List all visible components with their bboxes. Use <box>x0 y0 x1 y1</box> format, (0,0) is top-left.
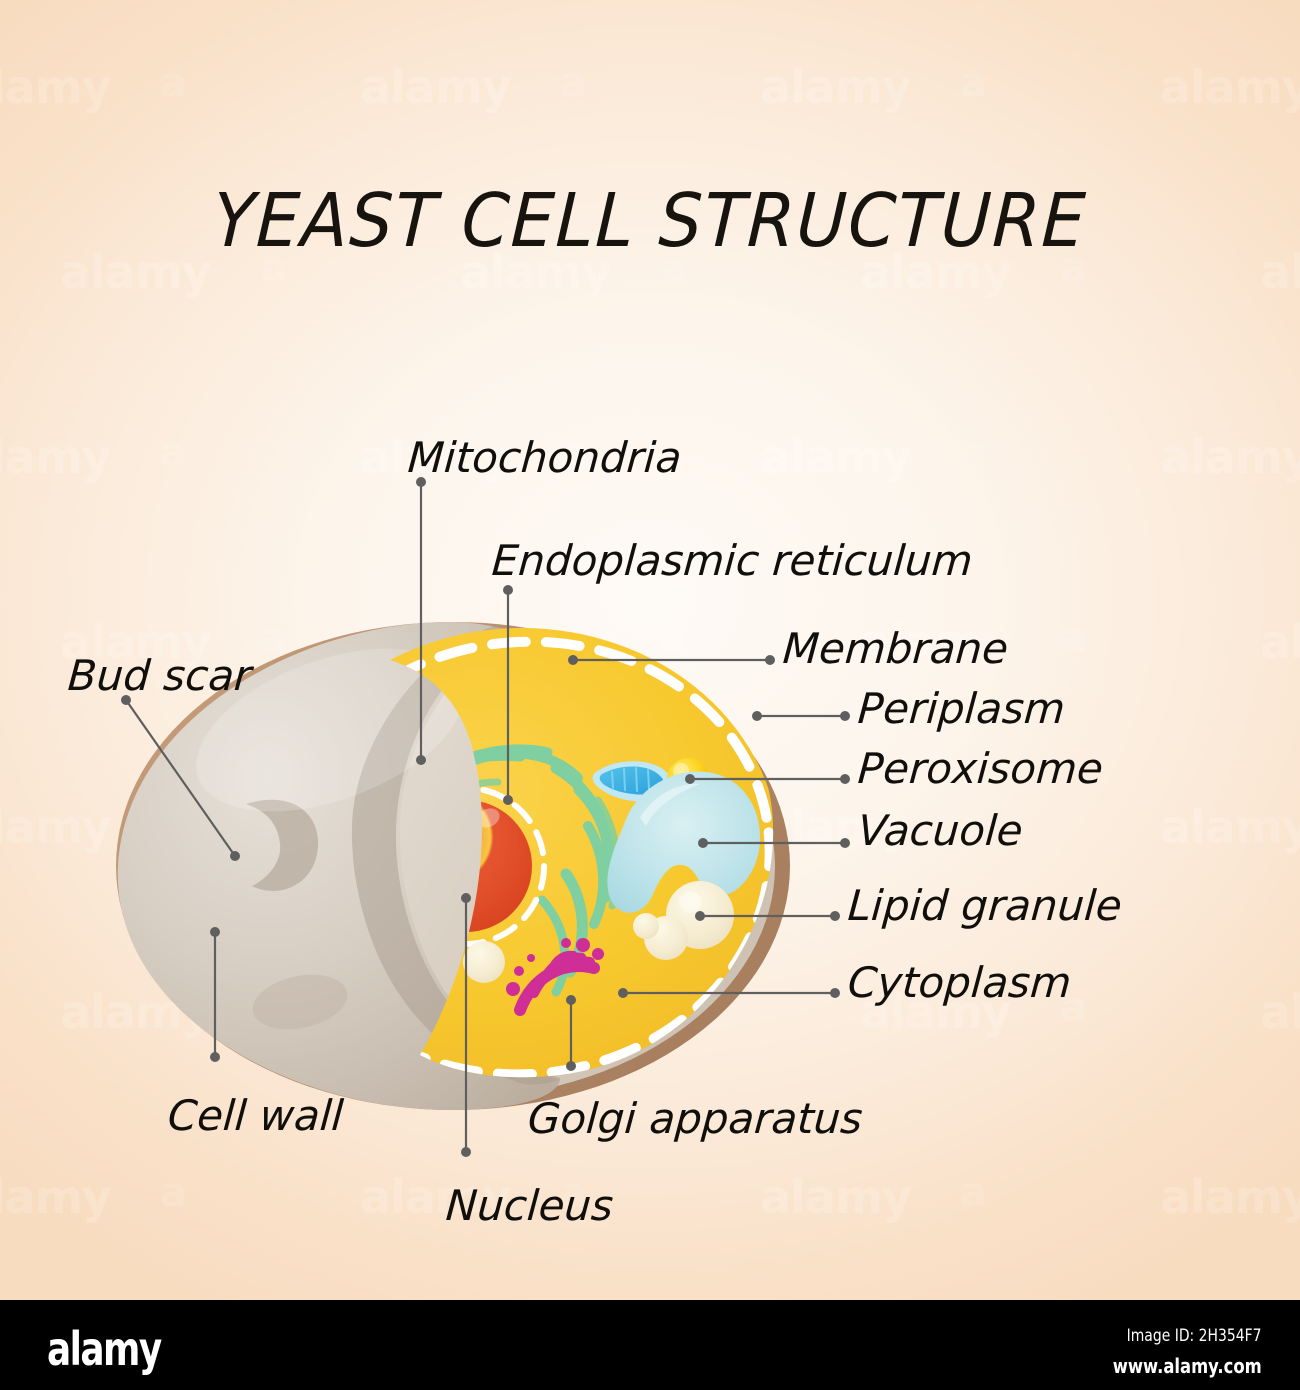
leader-golgi-apparatus-start-dot <box>566 1061 576 1071</box>
leader-endoplasmic-reticulum-start-dot <box>503 585 513 595</box>
leader-lipid-granule-end-dot <box>695 911 705 921</box>
leader-mitochondria-end-dot <box>416 755 426 765</box>
leader-peroxisome-start-dot <box>840 774 850 784</box>
leader-peroxisome-end-dot <box>685 774 695 784</box>
label-bud-scar: Bud scar <box>67 655 253 697</box>
label-membrane: Membrane <box>782 628 1010 670</box>
label-golgi-apparatus: Golgi apparatus <box>527 1098 864 1140</box>
label-cell-wall: Cell wall <box>167 1095 345 1137</box>
label-lipid-granule: Lipid granule <box>847 885 1124 927</box>
leader-vacuole-start-dot <box>840 838 850 848</box>
alamy-logo: alamy <box>47 1322 161 1376</box>
label-endoplasmic-reticulum: Endoplasmic reticulum <box>491 540 975 582</box>
leader-cytoplasm-end-dot <box>618 988 628 998</box>
leader-golgi-apparatus-end-dot <box>566 995 576 1005</box>
leader-cell-wall-start-dot <box>210 1052 220 1062</box>
leader-bud-scar-end-dot <box>230 851 240 861</box>
label-periplasm: Periplasm <box>857 688 1067 730</box>
leader-membrane-end-dot <box>568 655 578 665</box>
alamy-footer-bar: alamy Image ID: 2H354F7 www.alamy.com <box>0 1300 1300 1390</box>
label-nucleus: Nucleus <box>445 1185 615 1227</box>
leader-endoplasmic-reticulum-end-dot <box>503 795 513 805</box>
leader-cell-wall-end-dot <box>210 927 220 937</box>
leader-lipid-granule-start-dot <box>830 911 840 921</box>
leader-cytoplasm-start-dot <box>830 988 840 998</box>
leader-nucleus-end-dot <box>461 893 471 903</box>
alamy-website-text: www.alamy.com <box>1113 1354 1262 1378</box>
leader-membrane-start-dot <box>765 655 775 665</box>
poster-canvas: alamyaalamyaalamyaalamyalamyaalamyaalamy… <box>0 0 1300 1390</box>
leader-periplasm-end-dot <box>752 711 762 721</box>
leader-vacuole-end-dot <box>698 838 708 848</box>
label-vacuole: Vacuole <box>857 810 1025 852</box>
label-cytoplasm: Cytoplasm <box>847 962 1073 1004</box>
leader-nucleus-start-dot <box>461 1147 471 1157</box>
label-mitochondria: Mitochondria <box>407 437 683 479</box>
image-id-text: Image ID: 2H354F7 <box>1127 1326 1262 1346</box>
leader-periplasm-start-dot <box>840 711 850 721</box>
label-peroxisome: Peroxisome <box>857 748 1105 790</box>
